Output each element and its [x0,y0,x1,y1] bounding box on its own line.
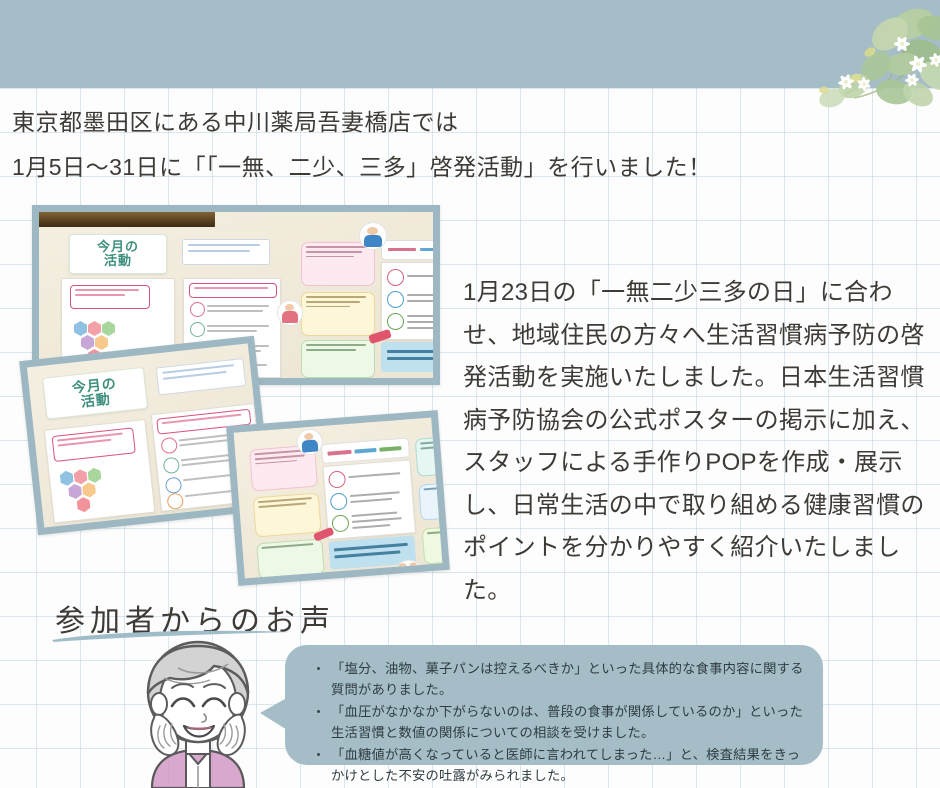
body-line-5: スタッフによる手作りPOPを作成・展示 [463,442,923,485]
body-line-1: 1月23日の「一無二少三多の日」に合わ [463,272,923,315]
wood-frame-edge [37,210,215,227]
character-sticker-red-3 [449,469,450,495]
pop-list-card [381,262,440,340]
handwritten-memo-2 [156,358,247,395]
body-line-6: し、日常生活の中で取り組める健康習慣の [463,485,923,528]
header-band [0,0,940,88]
body-line-2: せ、地域住民の方々へ生活習慣病予防の啓 [463,315,923,358]
poster-sheet-left-2 [44,419,156,523]
pop-card-lightgreen-3 [422,524,450,564]
pop-heading-card [381,240,440,260]
body-line-4: 病予防協会の公式ポスターの掲示に加え、 [463,400,923,443]
pop-card-yellow [301,292,375,336]
character-sticker-pair-3 [394,559,424,585]
character-sticker-blue [359,222,387,250]
pop-list-card-3 [323,459,416,540]
speech-bubble: 「塩分、油物、菓子パンは控えるべきか」といった具体的な食事内容に関する質問があり… [285,645,823,765]
intro-text: 東京都墨田区にある中川薬局吾妻橋店では 1月5日〜31日に「「一無、二少、三多」… [12,100,872,190]
elderly-woman-illustration [118,638,278,788]
pop-card-pink [301,242,375,286]
handwritten-memo [182,239,270,265]
pop-title-card-2: 今月の活動 [42,367,148,420]
photo-board-surface-3 [234,418,443,579]
pop-card-green-3 [256,538,325,579]
pop-title-card: 今月の活動 [69,234,167,274]
body-line-7: ポイントを分かりやすく紹介いたしまし [463,527,923,570]
character-sticker-pink [277,300,303,326]
voice-item: 「血圧がなかなか下がらないのは、普段の食事が関係しているのか」といった生活習慣と… [315,701,805,743]
pop-card-yellow-3 [253,492,322,537]
photo-collage: 今月の活動 [0,188,470,598]
body-line-3: 発活動を実施いたしました。日本生活習慣 [463,357,923,400]
pop-card-mint-3 [415,434,450,476]
intro-line-2: 1月5日〜31日に「「一無、二少、三多」啓発活動」を行いました！ [12,145,872,190]
voice-item: 「塩分、油物、菓子パンは控えるべきか」といった具体的な食事内容に関する質問があり… [315,658,805,700]
body-text: 1月23日の「一無二少三多の日」に合わ せ、地域住民の方々へ生活習慣病予防の啓 … [463,272,923,612]
character-sticker-running-3 [447,419,449,445]
voice-item: 「血糖値が高くなっていると医師に言われてしまった…」と、検査結果をきっかけとした… [315,744,805,786]
pop-card-lightblue-3 [418,480,450,520]
pop-card-green [301,340,375,378]
pop-footer-banner [381,342,440,372]
page-canvas: 東京都墨田区にある中川薬局吾妻橋店では 1月5日〜31日に「「一無、二少、三多」… [0,0,940,788]
intro-line-1: 東京都墨田区にある中川薬局吾妻橋店では [12,100,872,145]
voices-list: 「塩分、油物、菓子パンは控えるべきか」といった具体的な食事内容に関する質問があり… [285,645,823,786]
photo-handmade-pop-closeup[interactable] [226,410,450,586]
body-line-8: た。 [463,570,923,613]
